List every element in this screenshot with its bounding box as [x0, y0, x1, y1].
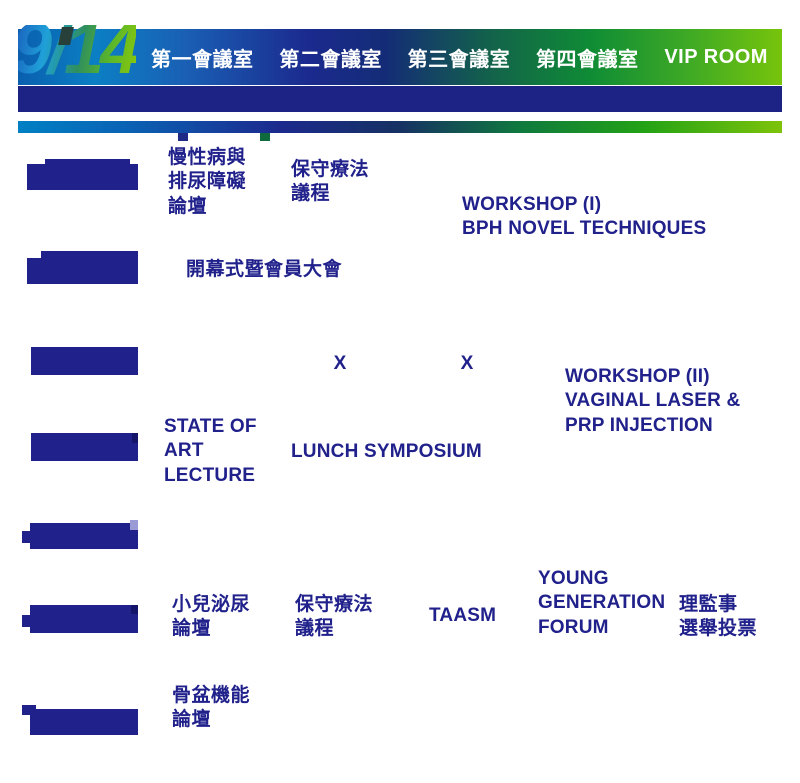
time-block-6[interactable]	[30, 605, 138, 633]
session-cell-chronic-disease-forum[interactable]: 慢性病與 排尿障礙 論壇	[168, 146, 278, 219]
session-cell-board-election[interactable]: 理監事 選舉投票	[679, 593, 789, 642]
room-tab-bar: 第一會議室 第二會議室 第三會議室 第四會議室 VIP ROOM	[143, 29, 782, 85]
session-cell-pelvic-function-forum[interactable]: 骨盆機能 論壇	[172, 684, 282, 733]
schedule-grid: 慢性病與 排尿障礙 論壇 保守療法 議程 WORKSHOP (I) BPH NO…	[0, 140, 800, 783]
session-cell-conservative-therapy-2[interactable]: 保守療法 議程	[295, 593, 405, 642]
time-block-5[interactable]	[30, 523, 138, 549]
room-tab-vip[interactable]: VIP ROOM	[664, 46, 768, 69]
gradient-divider-rule	[18, 121, 782, 133]
session-cell-taasm[interactable]: TAASM	[429, 604, 539, 628]
room-tab-1[interactable]: 第一會議室	[151, 43, 254, 72]
session-cell-lunch-symposium[interactable]: LUNCH SYMPOSIUM	[291, 440, 521, 464]
room-tab-2[interactable]: 第二會議室	[279, 43, 382, 72]
time-block-7[interactable]	[30, 709, 138, 735]
room-tab-3[interactable]: 第三會議室	[408, 43, 511, 72]
room-tab-4[interactable]: 第四會議室	[536, 43, 639, 72]
header-underbar	[18, 86, 782, 112]
session-cell-pediatric-urology-forum[interactable]: 小兒泌尿 論壇	[172, 593, 282, 642]
time-block-1[interactable]	[27, 164, 138, 190]
session-cell-state-of-art-lecture[interactable]: STATE OF ART LECTURE	[164, 415, 284, 488]
time-block-4[interactable]	[31, 433, 138, 461]
session-cell-workshop-1[interactable]: WORKSHOP (I) BPH NOVEL TECHNIQUES	[462, 193, 742, 242]
session-cell-workshop-2[interactable]: WORKSHOP (II) VAGINAL LASER & PRP INJECT…	[565, 365, 785, 438]
session-cell-conservative-therapy-1[interactable]: 保守療法 議程	[291, 158, 401, 207]
session-cell-opening-ceremony[interactable]: 開幕式暨會員大會	[186, 258, 416, 282]
session-cell-young-generation-forum[interactable]: YOUNG GENERATION FORUM	[538, 567, 678, 640]
time-block-3[interactable]	[31, 347, 138, 375]
time-block-2[interactable]	[27, 258, 138, 284]
event-date-text: 9/14	[18, 25, 136, 85]
event-date-logo: 9/14	[18, 25, 143, 91]
session-cell-x-mark-room3[interactable]: X	[455, 352, 479, 376]
session-cell-x-mark-room2[interactable]: X	[328, 352, 352, 376]
